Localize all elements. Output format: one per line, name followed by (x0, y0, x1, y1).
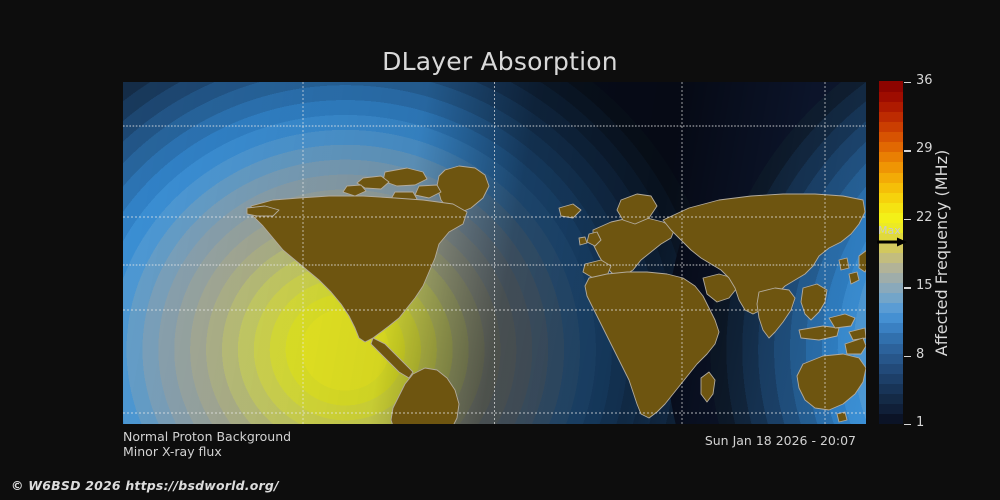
timestamp: Sun Jan 18 2026 - 20:07 (705, 433, 856, 448)
colorbar-segment (879, 283, 903, 294)
colorbar-segment (879, 273, 903, 284)
colorbar-segment (879, 81, 903, 92)
xray-status: Minor X-ray flux (123, 444, 291, 459)
colorbar-tick-mark (904, 424, 911, 425)
colorbar-tick-mark (904, 82, 911, 83)
page-title: DLayer Absorption (0, 47, 1000, 76)
colorbar-axis-label: Affected Frequency (MHz) (931, 82, 953, 424)
colorbar-segment (879, 202, 903, 213)
colorbar-segment (879, 162, 903, 173)
colorbar-segment (879, 182, 903, 193)
colorbar-segment (879, 303, 903, 314)
colorbar-tick-mark (904, 356, 911, 357)
colorbar-segment (879, 122, 903, 133)
colorbar[interactable]: 3629221581 Max (879, 82, 903, 424)
colorbar-segment (879, 192, 903, 203)
colorbar-tick-mark (904, 219, 911, 220)
colorbar-tick: 1 (903, 424, 973, 425)
colorbar-tick-mark (904, 150, 911, 151)
colorbar-segment (879, 383, 903, 394)
colorbar-segment (879, 132, 903, 143)
colorbar-segment (879, 373, 903, 384)
colorbar-tick-label: 1 (916, 415, 924, 431)
colorbar-segment (879, 353, 903, 364)
colorbar-segment (879, 262, 903, 273)
colorbar-segment (879, 172, 903, 183)
colorbar-gradient (879, 82, 903, 424)
colorbar-segment (879, 403, 903, 414)
colorbar-segment (879, 91, 903, 102)
colorbar-segment (879, 152, 903, 163)
colorbar-segment (879, 293, 903, 304)
max-marker-label: Max (878, 225, 901, 237)
colorbar-tick-label: 8 (916, 347, 924, 363)
colorbar-segment (879, 112, 903, 123)
colorbar-segment (879, 142, 903, 153)
colorbar-segment (879, 313, 903, 324)
colorbar-max-marker: Max (877, 225, 925, 253)
dlayer-absorption-screenshot: DLayer Absorption (0, 0, 1000, 500)
colorbar-segment (879, 413, 903, 424)
world-map-panel[interactable] (123, 82, 866, 424)
landmass-group (246, 166, 866, 424)
footer-credit: © W6BSD 2026 https://bsdworld.org/ (11, 478, 279, 493)
colorbar-segment (879, 252, 903, 263)
colorbar-segment (879, 102, 903, 113)
colorbar-segment (879, 343, 903, 354)
proton-status: Normal Proton Background (123, 429, 291, 444)
max-arrow-icon (877, 237, 907, 247)
colorbar-segment (879, 323, 903, 334)
colorbar-segment (879, 333, 903, 344)
colorbar-segment (879, 212, 903, 223)
colorbar-tick-mark (904, 287, 911, 288)
world-coastlines (123, 82, 866, 424)
colorbar-segment (879, 363, 903, 374)
space-weather-notes: Normal Proton Background Minor X-ray flu… (123, 429, 291, 459)
colorbar-segment (879, 393, 903, 404)
